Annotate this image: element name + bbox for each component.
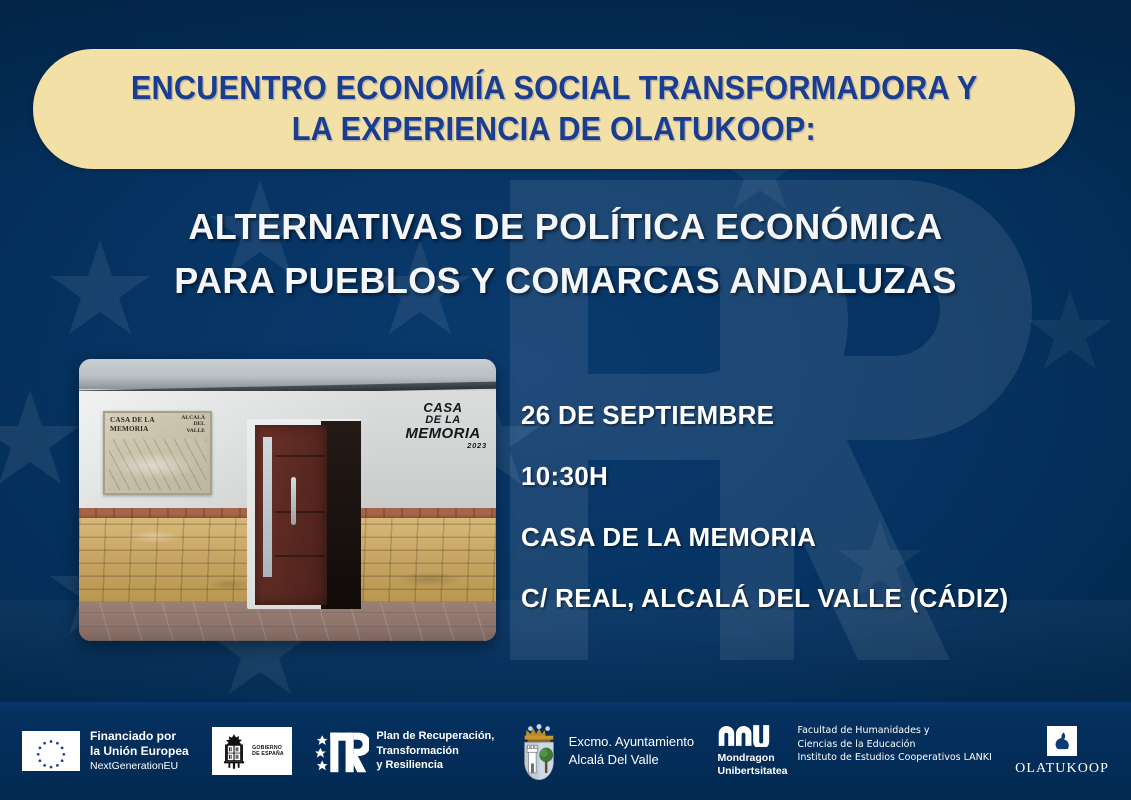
title-line-2: LA EXPERIENCIA DE OLATUKOOP: (292, 109, 816, 150)
photo-door-shadow (321, 421, 361, 609)
event-time: 10:30H (521, 461, 1121, 492)
title-line-1: ENCUENTRO ECONOMÍA SOCIAL TRANSFORMADORA… (131, 68, 978, 109)
eu-text-line-2: la Unión Europea (90, 744, 189, 758)
plaque-location-2: DEL (193, 421, 205, 427)
subtitle-line-1: ALTERNATIVAS DE POLÍTICA ECONÓMICA (0, 200, 1131, 254)
photo-door-glass-panel (263, 437, 272, 577)
mondragon-desc-1: Facultad de Humanidades y (798, 725, 930, 736)
photo-door-handle (291, 477, 296, 525)
event-venue: CASA DE LA MEMORIA (521, 522, 1121, 553)
prtr-line-3: y Resiliencia (376, 759, 443, 771)
gobierno-line-2: DE ESPAÑA (252, 751, 284, 757)
spain-coat-of-arms-icon (220, 732, 248, 770)
prtr-logo-text: Plan de Recuperación, Transformación y R… (376, 729, 494, 773)
subtitle-block: ALTERNATIVAS DE POLÍTICA ECONÓMICA PARA … (0, 200, 1131, 308)
crown-icon (524, 724, 553, 742)
gobierno-line-1: GOBIERNO (252, 745, 282, 751)
ayuntamiento-logo-text: Excmo. Ayuntamiento Alcalá Del Valle (569, 733, 695, 768)
wall-sign-line-3: MEMORIA (395, 426, 491, 442)
prtr-line-1: Plan de Recuperación, (376, 730, 494, 742)
olatukoop-wave-icon (1050, 729, 1074, 753)
logo-olatukoop: OLATUKOOP (1015, 726, 1109, 777)
sponsor-footer: Financiado por la Unión Europea NextGene… (0, 702, 1131, 800)
ayuntamiento-line-1: Excmo. Ayuntamiento (569, 734, 695, 749)
photo-wall-sign: CASA DE LA MEMORIA 2023 (395, 401, 491, 450)
logo-plan-recuperacion: Plan de Recuperación, Transformación y R… (315, 728, 494, 775)
ayuntamiento-line-2: Alcalá Del Valle (569, 752, 659, 767)
olatukoop-name: OLATUKOOP (1015, 761, 1109, 777)
poster-canvas: ENCUENTRO ECONOMÍA SOCIAL TRANSFORMADORA… (0, 0, 1131, 800)
venue-photo-content: CASA DE LA MEMORIA ALCALÁ DEL VALLE CASA… (79, 359, 496, 641)
subtitle-line-2: PARA PUEBLOS Y COMARCAS ANDALUZAS (0, 254, 1131, 308)
photo-door-groove-3 (275, 555, 325, 557)
plaque-location-3: VALLE (186, 428, 205, 434)
event-date: 26 DE SEPTIEMBRE (521, 400, 1121, 431)
alcala-del-valle-crest-icon (518, 721, 560, 781)
mondragon-faculty-text: Facultad de Humanidades y Ciencias de la… (798, 724, 992, 764)
plaque-location-1: ALCALÁ (181, 415, 205, 421)
eu-stars-circle-icon (22, 731, 80, 771)
logo-european-union: Financiado por la Unión Europea NextGene… (22, 729, 189, 772)
mondragon-wordmark: Mondragon Unibertsitatea (717, 724, 787, 778)
eu-text-line-3: NextGenerationEU (90, 760, 189, 773)
title-banner: ENCUENTRO ECONOMÍA SOCIAL TRANSFORMADORA… (33, 49, 1075, 169)
photo-ceramic-plaque: CASA DE LA MEMORIA ALCALÁ DEL VALLE (103, 411, 212, 495)
event-details: 26 DE SEPTIEMBRE 10:30H CASA DE LA MEMOR… (521, 400, 1121, 614)
mondragon-desc-3: Instituto de Estudios Cooperativos LANKI (798, 752, 992, 763)
gobierno-logo-text: GOBIERNO DE ESPAÑA (252, 745, 284, 758)
olatukoop-mark-icon (1047, 726, 1077, 756)
eu-flag-icon (22, 731, 80, 771)
photo-door-groove-2 (275, 511, 325, 513)
logo-mondragon-unibertsitatea: Mondragon Unibertsitatea Facultad de Hum… (717, 724, 991, 778)
eu-text-line-1: Financiado por (90, 729, 189, 743)
prtr-line-2: Transformación (376, 745, 459, 757)
mondragon-desc-2: Ciencias de la Educación (798, 739, 916, 750)
plaque-location: ALCALÁ DEL VALLE (181, 415, 205, 434)
photo-door-groove-1 (275, 455, 325, 457)
mondragon-name-2: Unibertsitatea (717, 765, 787, 778)
wall-sign-line-1: CASA (395, 401, 491, 415)
venue-photo: CASA DE LA MEMORIA ALCALÁ DEL VALLE CASA… (79, 359, 496, 641)
gobierno-logo-box: GOBIERNO DE ESPAÑA (212, 727, 292, 775)
logo-ayuntamiento: Excmo. Ayuntamiento Alcalá Del Valle (518, 721, 695, 781)
logo-gobierno-de-espana: GOBIERNO DE ESPAÑA (212, 727, 292, 775)
plaque-line-1: CASA DE LA (110, 416, 155, 424)
wall-sign-year: 2023 (395, 442, 491, 450)
event-address: C/ REAL, ALCALÁ DEL VALLE (CÁDIZ) (521, 583, 1121, 614)
sponsor-logo-row: Financiado por la Unión Europea NextGene… (0, 721, 1131, 781)
mondragon-mu-icon (717, 724, 779, 747)
prtr-monogram-icon (315, 728, 369, 775)
plaque-map-graphic (109, 439, 206, 490)
eu-logo-text: Financiado por la Unión Europea NextGene… (90, 729, 189, 772)
mondragon-name-1: Mondragon (717, 752, 787, 765)
plaque-line-2: MEMORIA (110, 425, 149, 433)
